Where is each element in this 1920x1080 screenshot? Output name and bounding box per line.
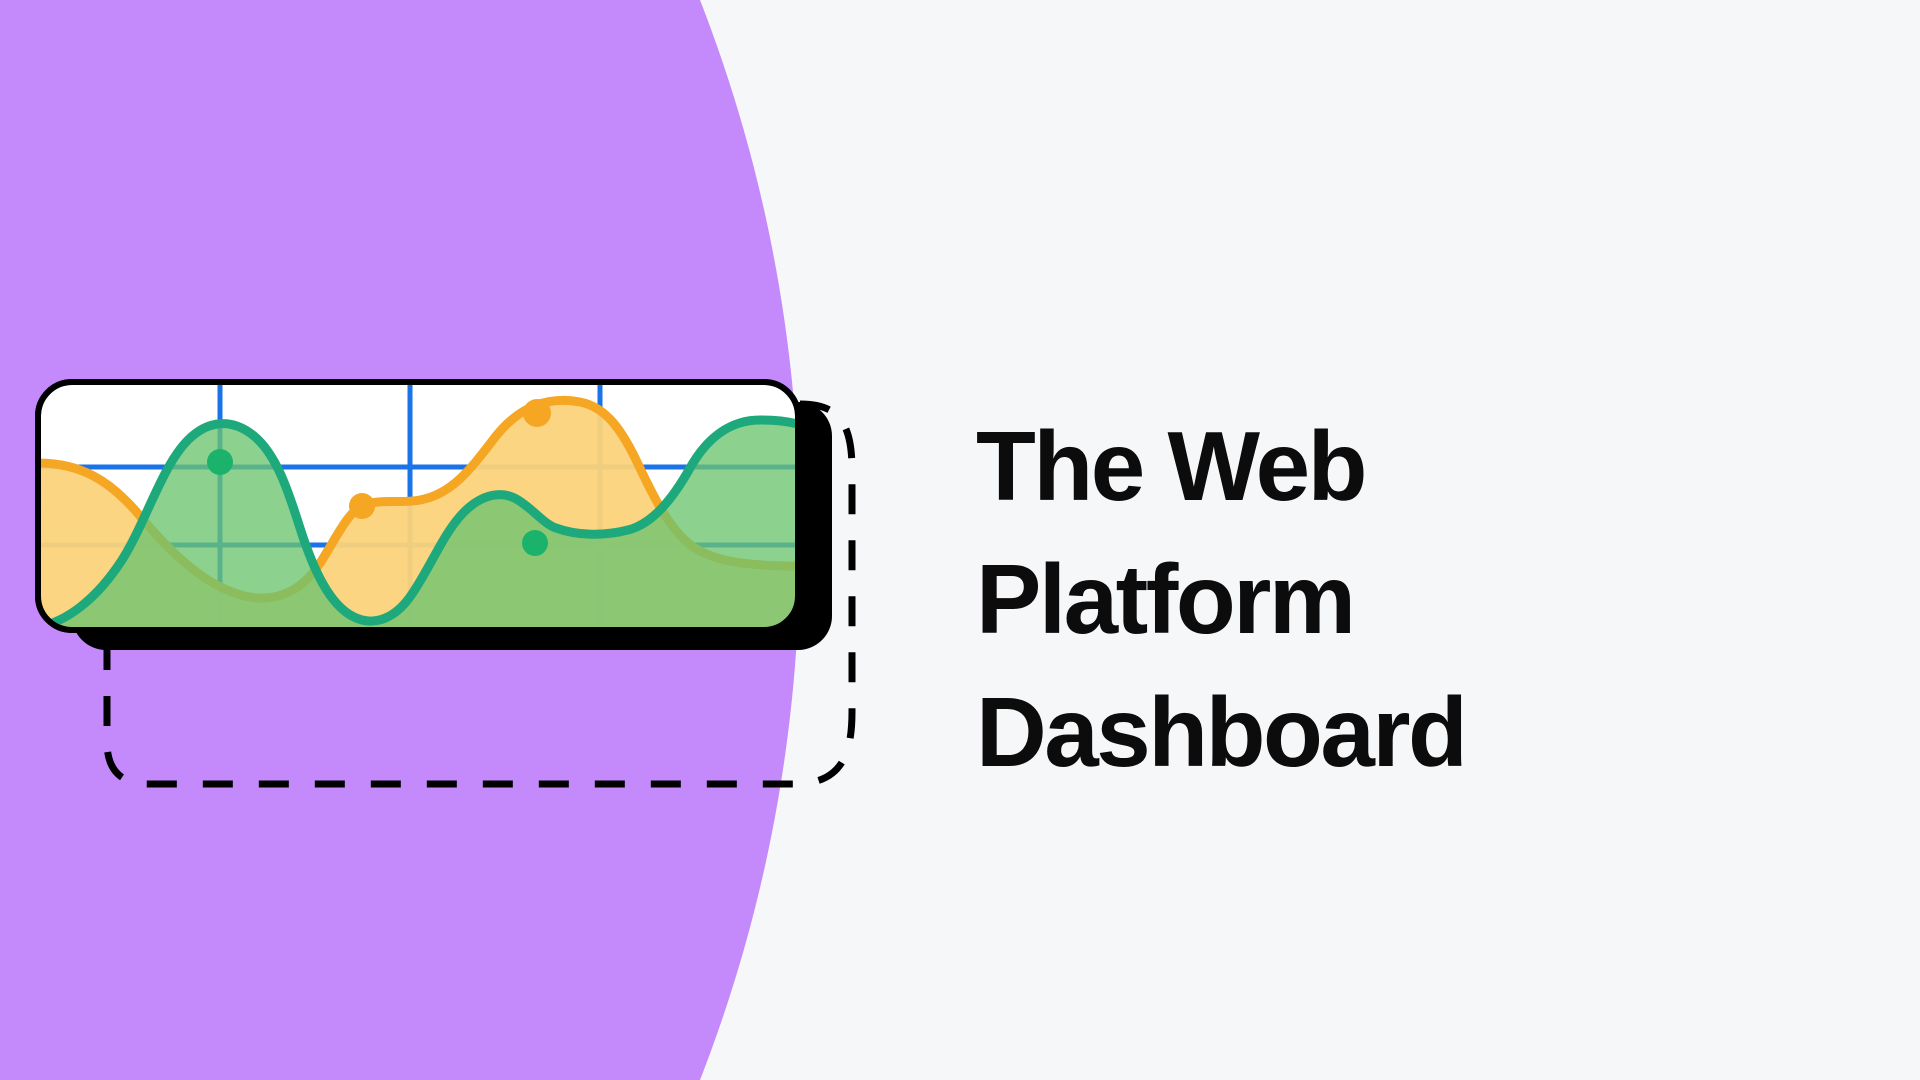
data-point-green-2[interactable] [522, 530, 548, 556]
page-title-line-1: The Web [976, 400, 1736, 533]
data-point-amber-2[interactable] [523, 399, 551, 427]
data-point-green-1[interactable] [207, 449, 233, 475]
page-title-line-3: Dashboard [976, 666, 1736, 799]
page-title-line-2: Platform [976, 533, 1736, 666]
data-point-amber-1[interactable] [349, 493, 375, 519]
hero-section: The Web Platform Dashboard [0, 0, 1920, 1080]
page-title: The Web Platform Dashboard [976, 400, 1736, 799]
